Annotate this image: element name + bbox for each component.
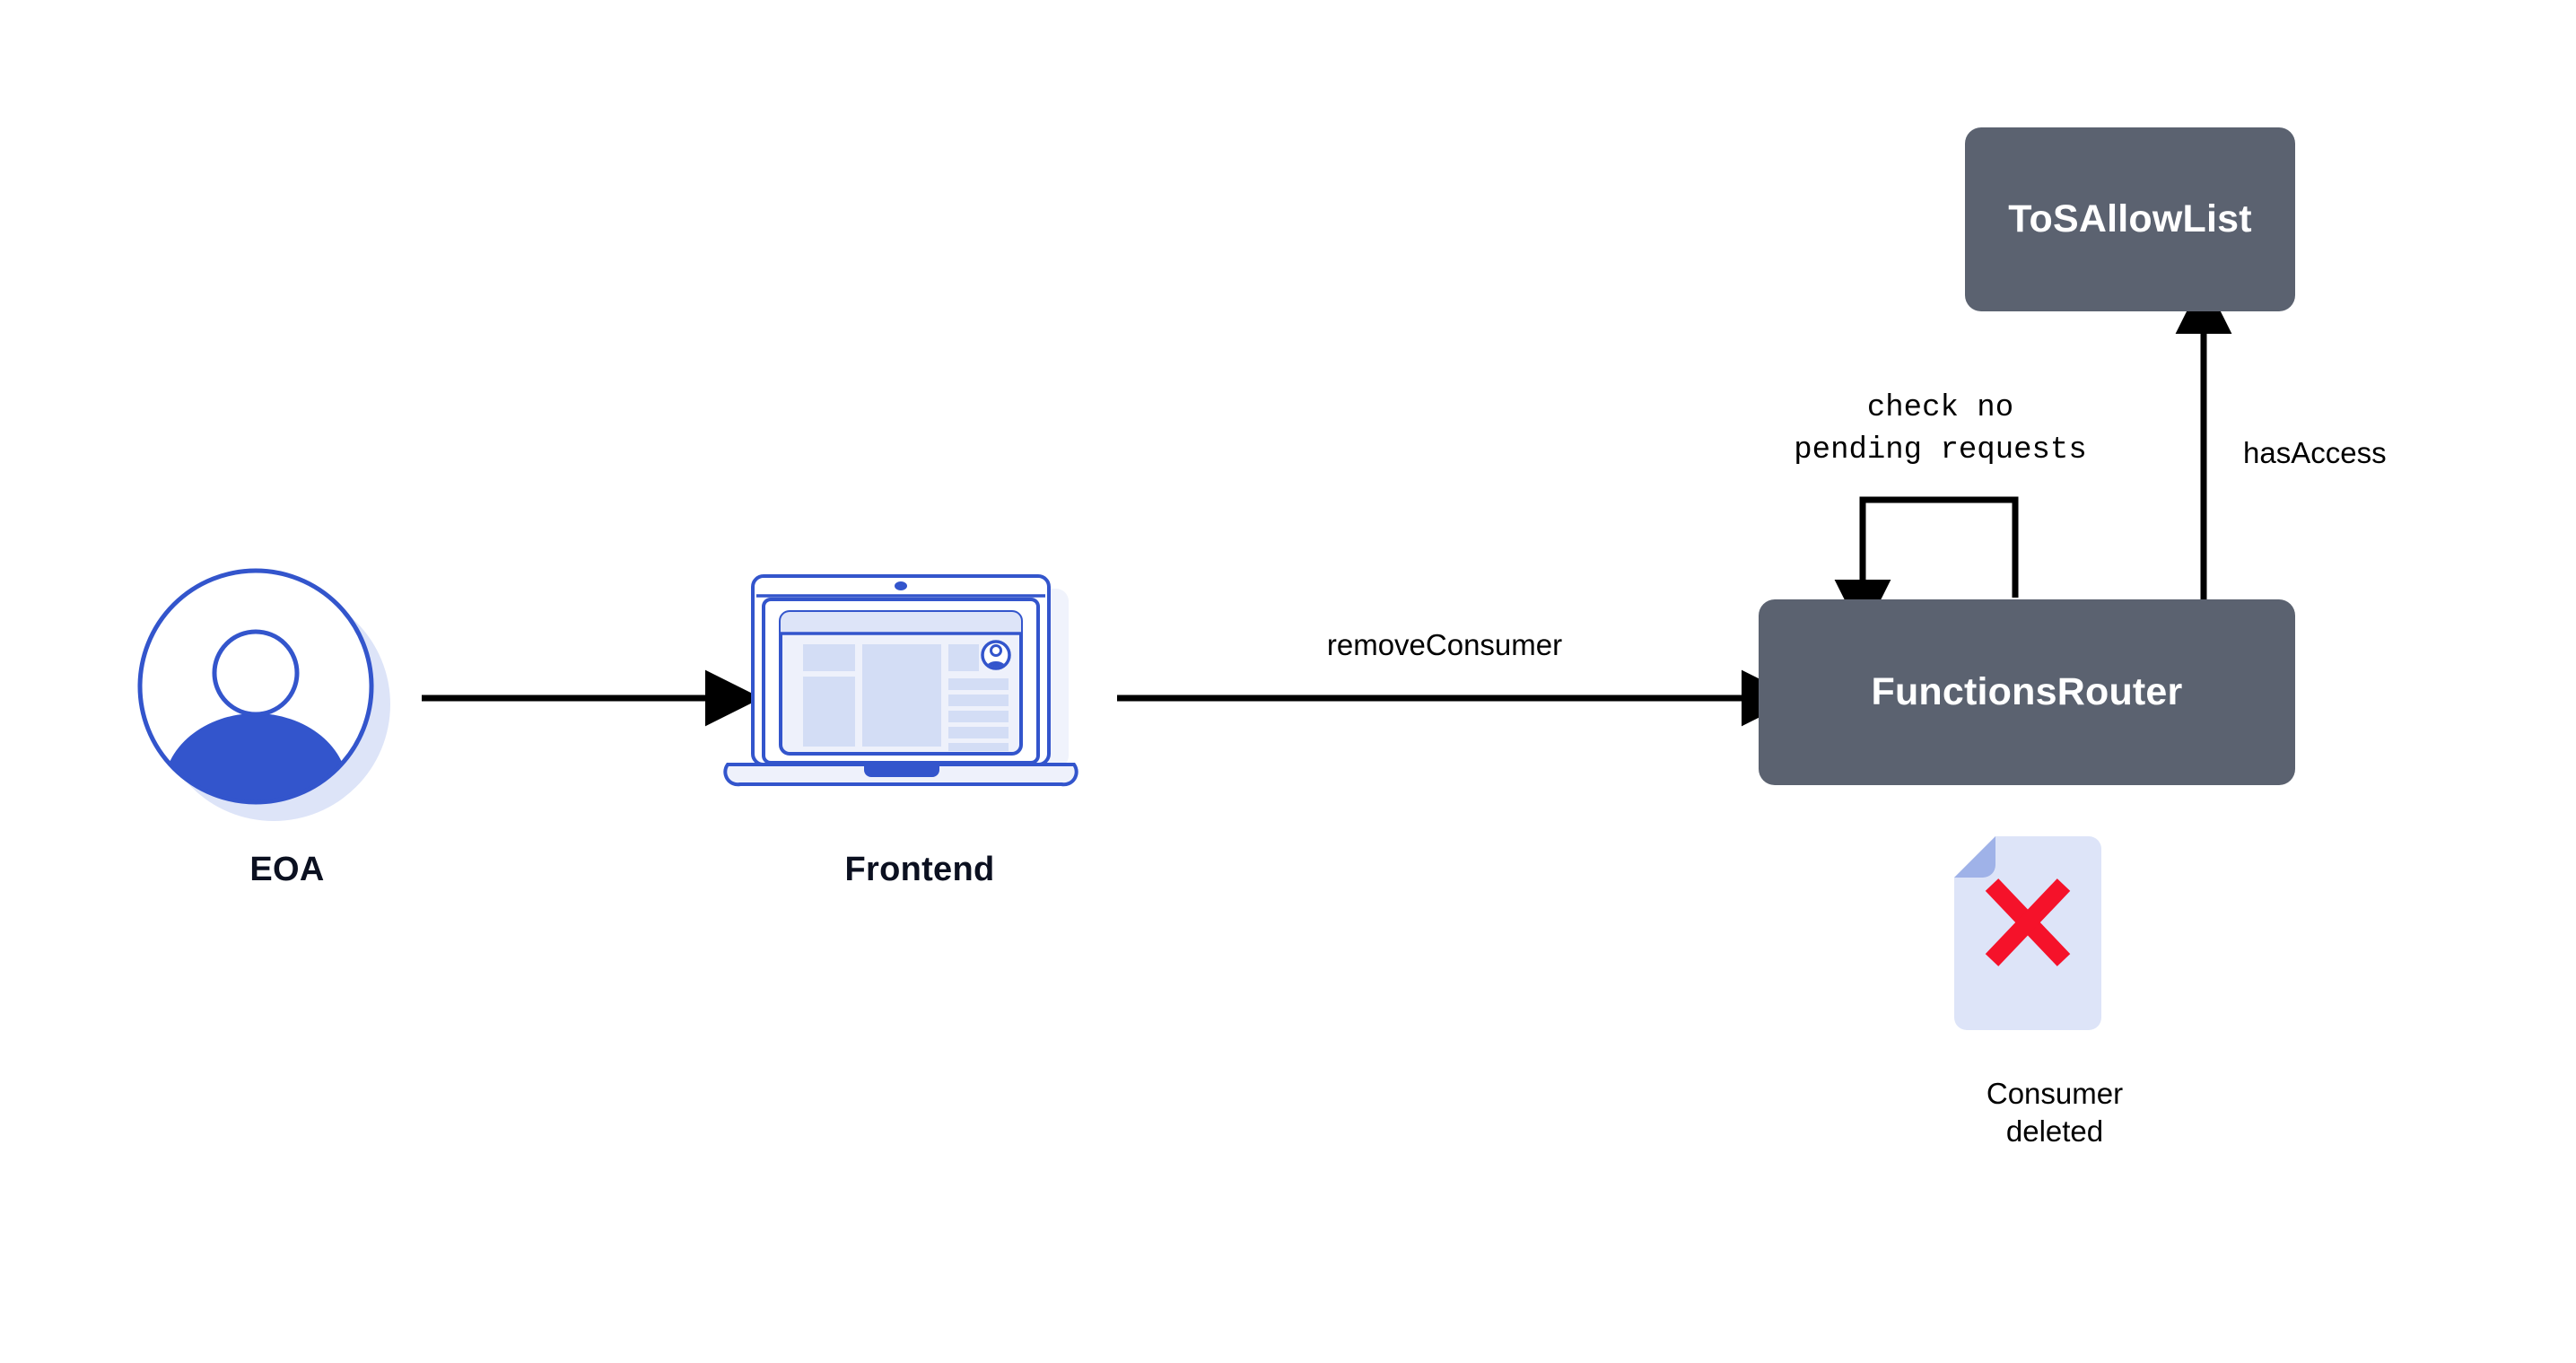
screen-text-line-3 [948, 711, 1009, 722]
screen-text-line-2 [948, 695, 1009, 706]
laptop-icon-svg [722, 572, 1108, 824]
screen-left-block-2 [803, 677, 855, 747]
screen-center-block [862, 644, 941, 747]
laptop-trackpad-notch [864, 765, 939, 777]
node-functions-router[interactable]: FunctionsRouter [1759, 599, 2295, 785]
screen-header-bar [781, 612, 1021, 633]
consumer-deleted-label: Consumer deleted [1866, 1075, 2243, 1150]
node-tos-allowlist[interactable]: ToSAllowList [1965, 127, 2295, 311]
file-x-icon [1947, 833, 2109, 1035]
file-folded-corner [1954, 836, 1995, 878]
frontend-label: Frontend [745, 851, 1095, 889]
diagram-canvas: EOA [0, 0, 2576, 1363]
edge-label-remove-consumer: removeConsumer [1297, 628, 1593, 662]
screen-text-line-5 [948, 743, 1009, 751]
file-x-icon-svg [1947, 833, 2109, 1035]
screen-text-line-1 [948, 678, 1009, 690]
user-avatar-icon-svg [135, 565, 395, 826]
user-avatar-icon [135, 565, 395, 826]
laptop-icon [722, 572, 1108, 824]
arrow-router-self-loop [1863, 500, 2015, 598]
edge-label-has-access: hasAccess [2243, 436, 2387, 470]
laptop-camera-dot [895, 581, 907, 590]
avatar-head [214, 632, 297, 714]
screen-right-block [948, 644, 979, 671]
eoa-label: EOA [117, 851, 458, 889]
edge-label-check-pending: check no pending requests [1772, 388, 2109, 472]
screen-left-block-1 [803, 644, 855, 671]
screen-text-line-4 [948, 727, 1009, 738]
